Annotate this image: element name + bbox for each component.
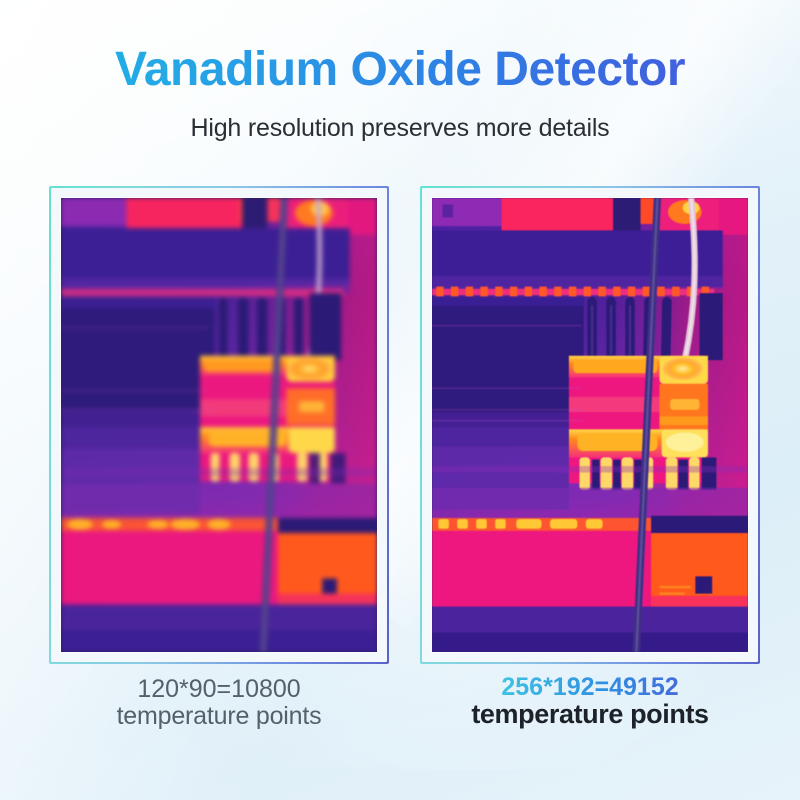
- thermal-image-high-res: [432, 198, 748, 652]
- caption-high-res-spec: 256*192=49152: [420, 674, 760, 700]
- caption-low-resolution: 120*90=10800 temperature points: [49, 676, 389, 730]
- promo-page: Vanadium Oxide Detector High resolution …: [0, 0, 800, 800]
- panel-low-resolution: [49, 186, 389, 664]
- panel-high-resolution: [420, 186, 760, 664]
- thermal-svg-low-res: [61, 198, 377, 652]
- thermal-image-low-res: [61, 198, 377, 652]
- caption-low-res-spec: 120*90=10800: [49, 676, 389, 703]
- page-subtitle: High resolution preserves more details: [0, 114, 800, 143]
- caption-low-res-label: temperature points: [49, 703, 389, 730]
- caption-high-resolution: 256*192=49152 temperature points: [420, 674, 760, 729]
- caption-high-res-label: temperature points: [420, 700, 760, 728]
- page-title: Vanadium Oxide Detector: [0, 46, 800, 94]
- thermal-svg-high-res: [432, 198, 748, 652]
